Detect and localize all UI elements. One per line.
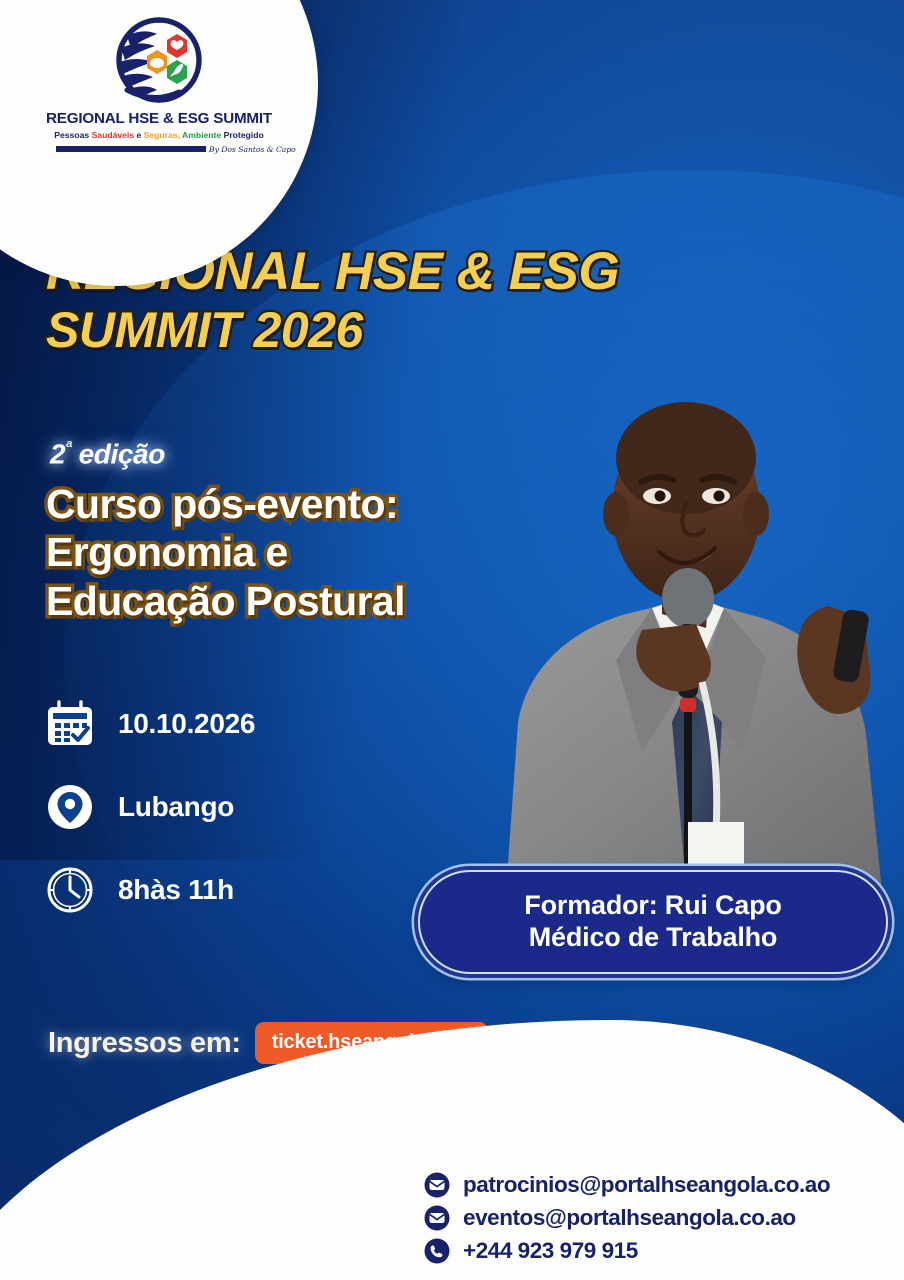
contact-row-sponsorship[interactable]: patrocinios@portalhseangola.co.ao bbox=[424, 1172, 830, 1198]
calendar-icon bbox=[44, 698, 96, 750]
speaker-photo bbox=[466, 392, 904, 892]
event-time: 8hàs 11h bbox=[118, 874, 234, 906]
contact-email-events: eventos@portalhseangola.co.ao bbox=[463, 1205, 796, 1231]
tagline-word-6: Protegido bbox=[224, 130, 264, 140]
course-title-line-3: Educação Postural bbox=[46, 577, 646, 625]
clock-icon bbox=[44, 864, 96, 916]
phone-icon bbox=[424, 1238, 450, 1264]
event-location: Lubango bbox=[118, 791, 234, 823]
edition-word: edição bbox=[71, 438, 165, 469]
event-details: 10.10.2026 Lubango bbox=[44, 698, 255, 916]
globe-hexagons-logo-icon bbox=[105, 14, 213, 106]
logo-byline: By Dos Santos & Capo bbox=[209, 145, 296, 154]
detail-row-time: 8hàs 11h bbox=[44, 864, 255, 916]
headline-line-2: SUMMIT 2026 bbox=[46, 304, 686, 356]
location-pin-icon bbox=[44, 781, 96, 833]
brand-logo: REGIONAL HSE & ESG SUMMIT Pessoas Saudáv… bbox=[34, 14, 284, 154]
email-icon bbox=[424, 1205, 450, 1231]
tagline-word-5: Ambiente bbox=[182, 130, 221, 140]
logo-tagline: Pessoas Saudáveis e Seguras, Ambiente Pr… bbox=[34, 130, 284, 140]
course-title-line-2: Ergonomia e bbox=[46, 528, 646, 576]
edition-label: 2ª edição bbox=[50, 437, 165, 470]
detail-row-date: 10.10.2026 bbox=[44, 698, 255, 750]
contact-list: patrocinios@portalhseangola.co.ao evento… bbox=[424, 1172, 830, 1264]
tagline-word-1: Pessoas bbox=[54, 130, 89, 140]
tagline-word-2: Saudáveis bbox=[92, 130, 135, 140]
event-poster: REGIONAL HSE & ESG SUMMIT 2026 2ª edição… bbox=[0, 0, 904, 1280]
trainer-badge: Formador: Rui Capo Médico de Trabalho bbox=[418, 870, 888, 974]
course-title-line-1: Curso pós-evento: bbox=[46, 480, 646, 528]
tagline-word-4: Seguras, bbox=[144, 130, 180, 140]
edition-number: 2 bbox=[50, 438, 65, 469]
logo-rule-bar bbox=[56, 146, 206, 152]
contact-phone: +244 923 979 915 bbox=[463, 1238, 638, 1264]
contact-email-sponsorship: patrocinios@portalhseangola.co.ao bbox=[463, 1172, 830, 1198]
tagline-word-3: e bbox=[136, 130, 141, 140]
course-title: Curso pós-evento: Ergonomia e Educação P… bbox=[46, 480, 646, 625]
contact-row-events[interactable]: eventos@portalhseangola.co.ao bbox=[424, 1205, 830, 1231]
contact-row-phone[interactable]: +244 923 979 915 bbox=[424, 1238, 830, 1264]
logo-byline-rule: By Dos Santos & Capo bbox=[56, 145, 262, 154]
trainer-name: Formador: Rui Capo bbox=[524, 890, 781, 922]
event-date: 10.10.2026 bbox=[118, 708, 255, 740]
trainer-role: Médico de Trabalho bbox=[529, 922, 777, 954]
email-icon bbox=[424, 1172, 450, 1198]
logo-title: REGIONAL HSE & ESG SUMMIT bbox=[34, 110, 284, 127]
detail-row-location: Lubango bbox=[44, 781, 255, 833]
tickets-label: Ingressos em: bbox=[48, 1027, 241, 1060]
